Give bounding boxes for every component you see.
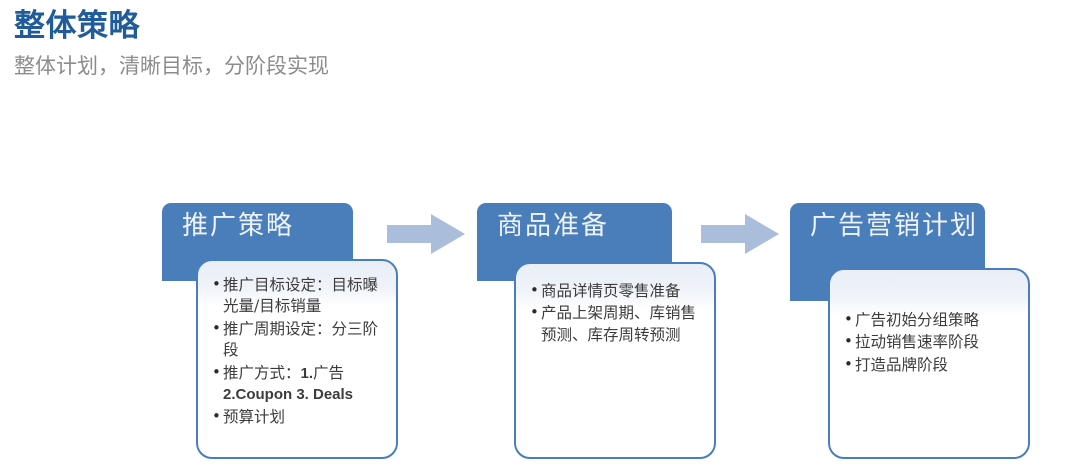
list-item: 打造品牌阶段 (844, 355, 1020, 376)
stage-3-title: 广告营销计划 (810, 212, 978, 242)
list-item: 拉动销售速率阶段 (844, 332, 1020, 353)
stage-3-panel: 广告初始分组策略拉动销售速率阶段打造品牌阶段 (828, 268, 1030, 459)
list-item: 广告初始分组策略 (844, 310, 1020, 331)
process-flow-diagram: 推广策略 推广目标设定：目标曝光量/目标销量推广周期设定：分三阶段推广方式：1.… (0, 0, 1080, 466)
flow-stage-3[interactable]: 广告营销计划 广告初始分组策略拉动销售速率阶段打造品牌阶段 (0, 0, 1080, 466)
stage-3-bullet-list: 广告初始分组策略拉动销售速率阶段打造品牌阶段 (844, 310, 1020, 377)
